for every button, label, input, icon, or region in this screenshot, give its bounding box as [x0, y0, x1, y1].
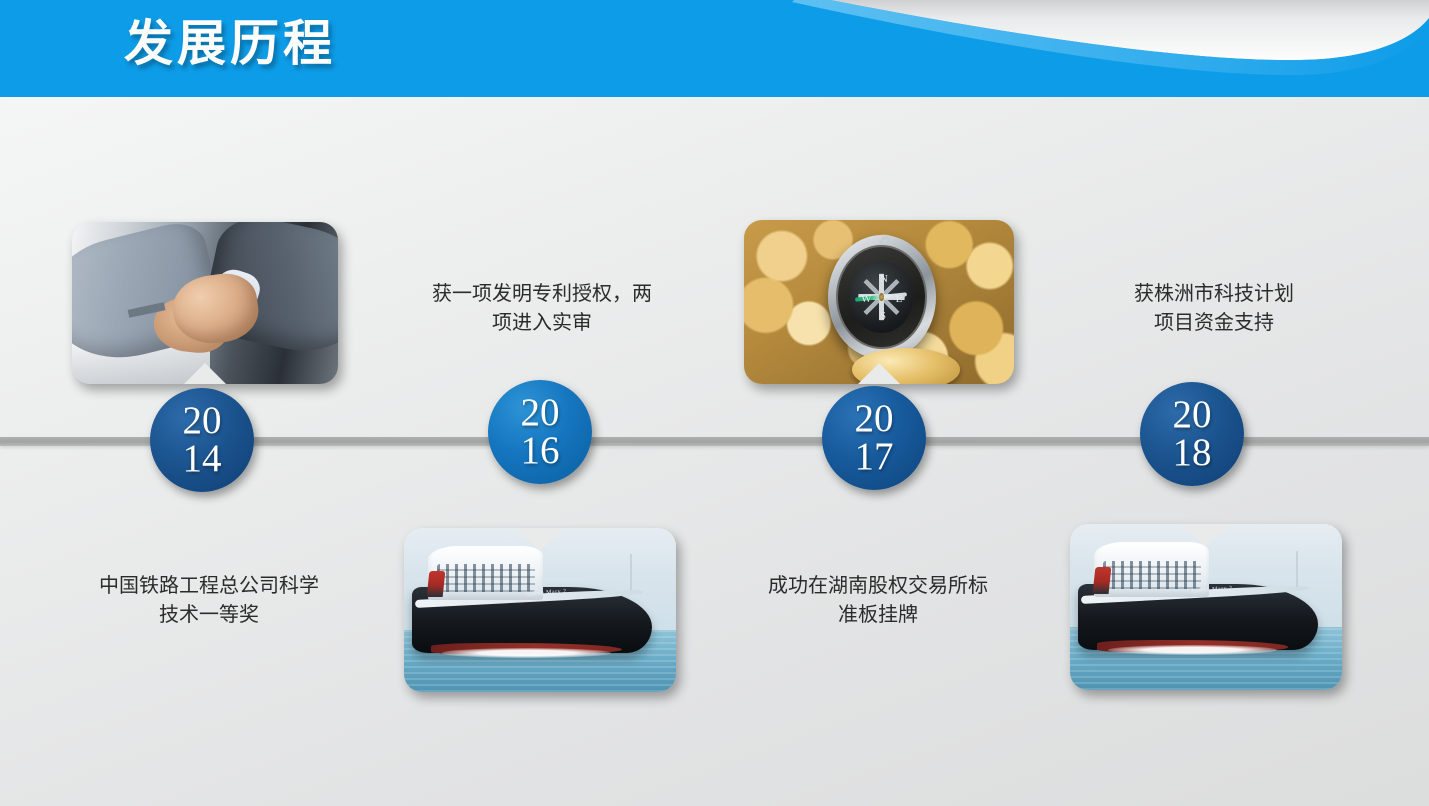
cruise-ship-illustration: Queen Mary 2 — [1070, 524, 1342, 690]
compass-east-label: E — [896, 293, 903, 305]
milestone-caption-2017: 成功在湖南股权交易所标 准板挂牌 — [728, 572, 1028, 630]
milestone-image-cruise-ship-photo-2016: Queen Mary 2 — [404, 528, 676, 692]
compass-south-label: S — [880, 310, 886, 322]
caption-line-1: 获一项发明专利授权，两 — [392, 280, 692, 309]
caption-line-1: 成功在湖南股权交易所标 — [728, 572, 1028, 601]
caption-line-2: 项进入实审 — [392, 309, 692, 338]
year-badge-2018[interactable]: 20 18 — [1140, 382, 1244, 486]
cruise-ship-illustration: Queen Mary 2 — [404, 528, 676, 692]
caption-line-1: 中国铁路工程总公司科学 — [54, 572, 364, 601]
year-bottom: 18 — [1173, 434, 1212, 472]
slide-header: 发展历程 — [0, 0, 1429, 97]
year-top: 20 — [1173, 396, 1212, 434]
milestone-image-cruise-ship-photo-2018: Queen Mary 2 — [1070, 524, 1342, 690]
compass-west-label: W — [861, 293, 871, 305]
year-badge-2016[interactable]: 20 16 — [488, 380, 592, 484]
year-badge-2014[interactable]: 20 14 — [150, 388, 254, 492]
year-badge-2017[interactable]: 20 17 — [822, 386, 926, 490]
year-bottom: 16 — [521, 432, 560, 470]
milestone-caption-2018: 获株洲市科技计划 项目资金支持 — [1068, 280, 1360, 338]
slide-canvas: 发展历程 20 14 中国铁路工程总公司科学 技术一等奖 获一项发明专利授权，两… — [0, 0, 1429, 806]
caption-line-1: 获株洲市科技计划 — [1068, 280, 1360, 309]
year-bottom: 17 — [855, 438, 894, 476]
compass-coins-illustration: N S E W — [744, 220, 1014, 384]
caption-line-2: 技术一等奖 — [54, 601, 364, 630]
milestone-image-handshake-photo — [72, 222, 338, 384]
year-top: 20 — [183, 402, 222, 440]
handshake-illustration — [72, 222, 338, 384]
compass-north-label: N — [880, 273, 888, 285]
caption-line-2: 项目资金支持 — [1068, 309, 1360, 338]
year-top: 20 — [521, 394, 560, 432]
year-bottom: 14 — [183, 440, 222, 478]
year-top: 20 — [855, 400, 894, 438]
page-title: 发展历程 — [124, 14, 336, 75]
milestone-caption-2014: 中国铁路工程总公司科学 技术一等奖 — [54, 572, 364, 630]
milestone-image-compass-gold-coins-photo: N S E W — [744, 220, 1014, 384]
caption-line-2: 准板挂牌 — [728, 601, 1028, 630]
milestone-caption-2016: 获一项发明专利授权，两 项进入实审 — [392, 280, 692, 338]
